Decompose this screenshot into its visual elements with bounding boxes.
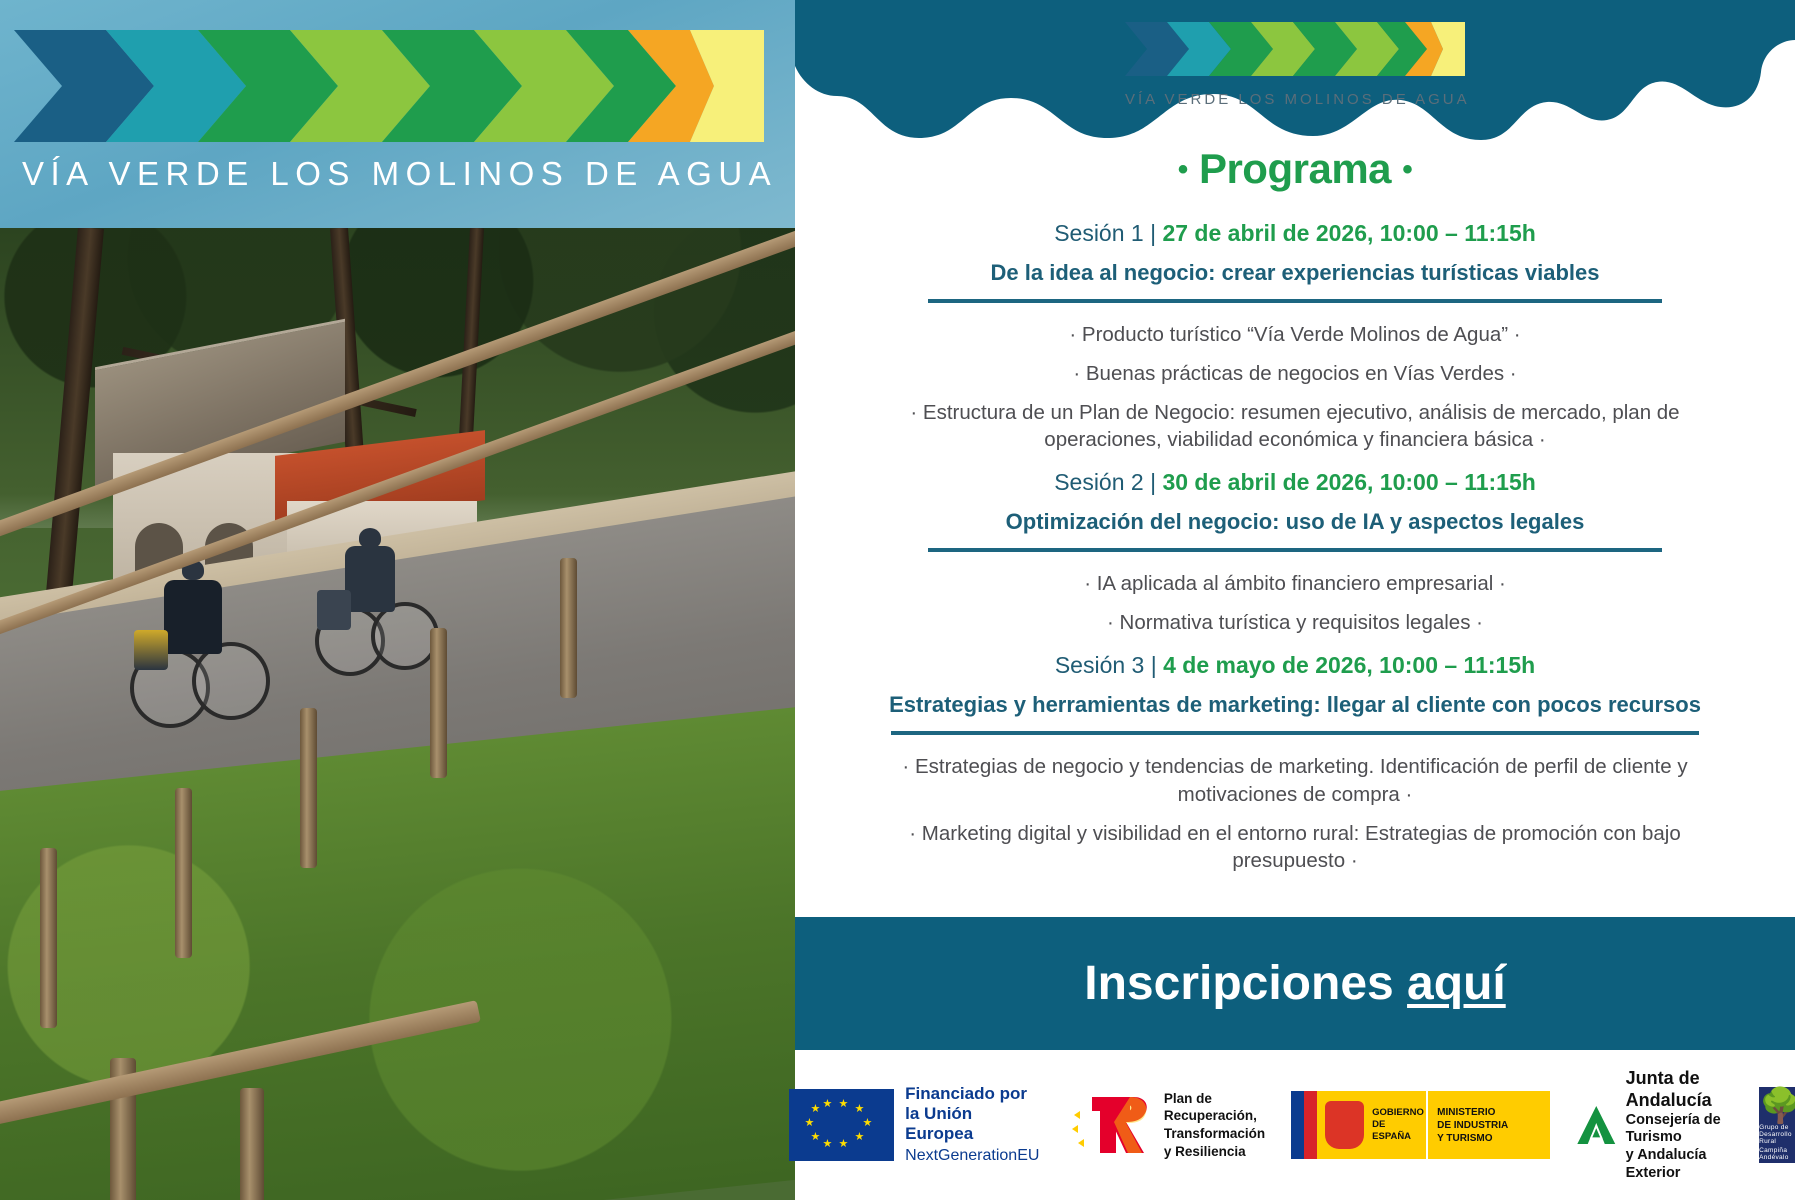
list-item: · Producto turístico “Vía Verde Molinos … [825, 321, 1765, 349]
session-block-1: Sesión 1 | 27 de abril de 2026, 10:00 – … [825, 219, 1765, 454]
eu-star-icon: ★ [863, 1118, 873, 1129]
eu-line-1: Financiado por [905, 1084, 1042, 1104]
gobierno-line-1: GOBIERNO [1372, 1107, 1426, 1119]
photo-fence-post [175, 788, 192, 958]
spain-coat-of-arms-icon [1325, 1101, 1364, 1149]
session-1-date: 27 de abril de 2026, 10:00 – 11:15h [1162, 220, 1535, 246]
photo-pannier-bag [317, 590, 351, 630]
session-1-title: De la idea al negocio: crear experiencia… [825, 259, 1765, 287]
registration-banner[interactable]: Inscripciones aquí [795, 917, 1795, 1050]
session-3-divider [891, 731, 1699, 735]
prtr-text: Plan de Recuperación, Transformación y R… [1164, 1090, 1265, 1160]
registration-prefix: Inscripciones [1084, 957, 1407, 1010]
funding-logos-footer: ★ ★ ★ ★ ★ ★ ★ ★ ★ ★ Financiado por la Un… [795, 1050, 1795, 1200]
brand-header-band: VÍA VERDE LOS MOLINOS DE AGUA [0, 0, 795, 228]
photo-fence-post [40, 848, 57, 1028]
eu-star-icon: ★ [823, 1099, 833, 1110]
list-item: · Buenas prácticas de negocios en Vías V… [825, 360, 1765, 388]
eu-flag-icon: ★ ★ ★ ★ ★ ★ ★ ★ ★ ★ [789, 1089, 895, 1161]
registration-link[interactable]: aquí [1407, 957, 1506, 1010]
list-item: · Estrategias de negocio y tendencias de… [825, 753, 1765, 808]
flag-stripe-blue [1291, 1091, 1304, 1159]
photo-fence-post [240, 1088, 264, 1200]
eu-star-icon: ★ [855, 1132, 865, 1143]
junta-line-1: Junta de Andalucía [1626, 1068, 1733, 1112]
prtr-line-4: y Resiliencia [1164, 1143, 1265, 1161]
list-item: · Normativa turística y requisitos legal… [825, 609, 1765, 637]
session-1-label: Sesión 1 | [1054, 220, 1156, 246]
gobierno-line-2: DE ESPAÑA [1372, 1119, 1426, 1143]
prtr-line-2: Recuperación, [1164, 1107, 1265, 1125]
junta-de-andalucia-logo: Junta de Andalucía Consejería de Turismo… [1576, 1068, 1733, 1183]
session-2-divider [928, 548, 1661, 552]
spain-flag-icon: GOBIERNO DE ESPAÑA [1291, 1091, 1426, 1159]
campina-andevalo-logo: 🌳 Grupo de Desarrollo Rural Campiña Andé… [1759, 1087, 1795, 1163]
photo-fence-post [300, 708, 317, 868]
eu-star-icon: ★ [811, 1104, 821, 1115]
flag-stripe-red [1304, 1091, 1317, 1159]
session-block-3: Sesión 3 | 4 de mayo de 2026, 10:00 – 11… [825, 651, 1765, 875]
session-3-meta: Sesión 3 | 4 de mayo de 2026, 10:00 – 11… [825, 651, 1765, 681]
ministerio-line-2: DE INDUSTRIA [1437, 1119, 1508, 1132]
gobierno-de-espana-logo: GOBIERNO DE ESPAÑA MINISTERIO DE INDUSTR… [1291, 1091, 1550, 1159]
eu-star-icon: ★ [805, 1118, 815, 1129]
session-3-date: 4 de mayo de 2026, 10:00 – 11:15h [1163, 652, 1535, 678]
eu-star-icon: ★ [823, 1139, 833, 1150]
ministerio-line-1: MINISTERIO [1437, 1106, 1508, 1119]
campina-line-1: Grupo de Desarrollo Rural [1759, 1124, 1795, 1145]
campina-line-2: Campiña Andévalo [1759, 1147, 1795, 1161]
left-visual-column: VÍA VERDE LOS MOLINOS DE AGUA [0, 0, 795, 1200]
program-brand-name: VÍA VERDE LOS MOLINOS DE AGUA [1125, 91, 1465, 108]
list-item: · Marketing digital y visibilidad en el … [825, 820, 1765, 875]
session-2-label: Sesión 2 | [1054, 469, 1156, 495]
session-3-bullets: · Estrategias de negocio y tendencias de… [825, 753, 1765, 875]
eu-star-icon: ★ [839, 1099, 849, 1110]
eu-star-icon: ★ [839, 1139, 849, 1150]
bike-path-photograph [0, 228, 795, 1200]
session-1-meta: Sesión 1 | 27 de abril de 2026, 10:00 – … [825, 219, 1765, 249]
via-verde-chevron-logo [14, 22, 764, 142]
session-3-title: Estrategias y herramientas de marketing:… [825, 691, 1765, 719]
prtr-line-3: Transformación [1164, 1125, 1265, 1143]
session-1-divider [928, 299, 1661, 303]
via-verde-chevron-logo-small [1125, 16, 1465, 80]
program-panel: VÍA VERDE LOS MOLINOS DE AGUA • Programa… [795, 0, 1795, 1200]
prtr-logo: Plan de Recuperación, Transformación y R… [1068, 1089, 1265, 1161]
session-1-bullets: · Producto turístico “Vía Verde Molinos … [825, 321, 1765, 454]
eu-funding-logo: ★ ★ ★ ★ ★ ★ ★ ★ ★ ★ Financiado por la Un… [789, 1084, 1042, 1166]
prtr-mark-icon [1068, 1089, 1154, 1161]
registration-cta[interactable]: Inscripciones aquí [1084, 956, 1505, 1011]
ministerio-block: MINISTERIO DE INDUSTRIA Y TURISMO [1426, 1091, 1550, 1159]
eu-funding-text: Financiado por la Unión Europea NextGene… [905, 1084, 1042, 1166]
list-item: · IA aplicada al ámbito financiero empre… [825, 570, 1765, 598]
title-dot-left: • [1178, 153, 1188, 186]
brand-name-left: VÍA VERDE LOS MOLINOS DE AGUA [22, 155, 782, 193]
gobierno-label: GOBIERNO DE ESPAÑA [1372, 1107, 1426, 1143]
session-2-title: Optimización del negocio: uso de IA y as… [825, 508, 1765, 536]
session-2-bullets: · IA aplicada al ámbito financiero empre… [825, 570, 1765, 636]
photo-rider-body [345, 546, 395, 612]
ministerio-label: MINISTERIO DE INDUSTRIA Y TURISMO [1437, 1106, 1508, 1145]
title-dot-right: • [1402, 153, 1412, 186]
junta-line-3: y Andalucía Exterior [1626, 1147, 1733, 1182]
photo-rider-helmet [359, 528, 381, 548]
page-title: • Programa • [795, 145, 1795, 193]
tree-icon: 🌳 [1759, 1090, 1795, 1122]
session-3-label: Sesión 3 | [1055, 652, 1157, 678]
ministerio-line-3: Y TURISMO [1437, 1132, 1508, 1145]
junta-a-icon [1576, 1094, 1617, 1156]
prtr-line-1: Plan de [1164, 1090, 1265, 1108]
photo-bike-wheel [371, 602, 439, 670]
eu-line-2: la Unión Europea [905, 1104, 1042, 1144]
junta-text: Junta de Andalucía Consejería de Turismo… [1626, 1068, 1733, 1183]
photo-fence-post [430, 628, 447, 778]
session-block-2: Sesión 2 | 30 de abril de 2026, 10:00 – … [825, 468, 1765, 637]
junta-line-2: Consejería de Turismo [1626, 1112, 1733, 1147]
eu-star-icon: ★ [811, 1132, 821, 1143]
sessions-container: Sesión 1 | 27 de abril de 2026, 10:00 – … [795, 205, 1795, 886]
eu-star-icon: ★ [855, 1104, 865, 1115]
photo-rider-body [164, 580, 222, 654]
photo-pannier-bag [134, 630, 168, 670]
session-2-meta: Sesión 2 | 30 de abril de 2026, 10:00 – … [825, 468, 1765, 498]
photo-fence-post [560, 558, 577, 698]
eu-line-3: NextGenerationEU [905, 1147, 1042, 1166]
program-brand-logo: VÍA VERDE LOS MOLINOS DE AGUA [1125, 16, 1465, 108]
list-item: · Estructura de un Plan de Negocio: resu… [825, 399, 1765, 454]
page-title-text: Programa [1199, 145, 1391, 192]
session-2-date: 30 de abril de 2026, 10:00 – 11:15h [1162, 469, 1535, 495]
